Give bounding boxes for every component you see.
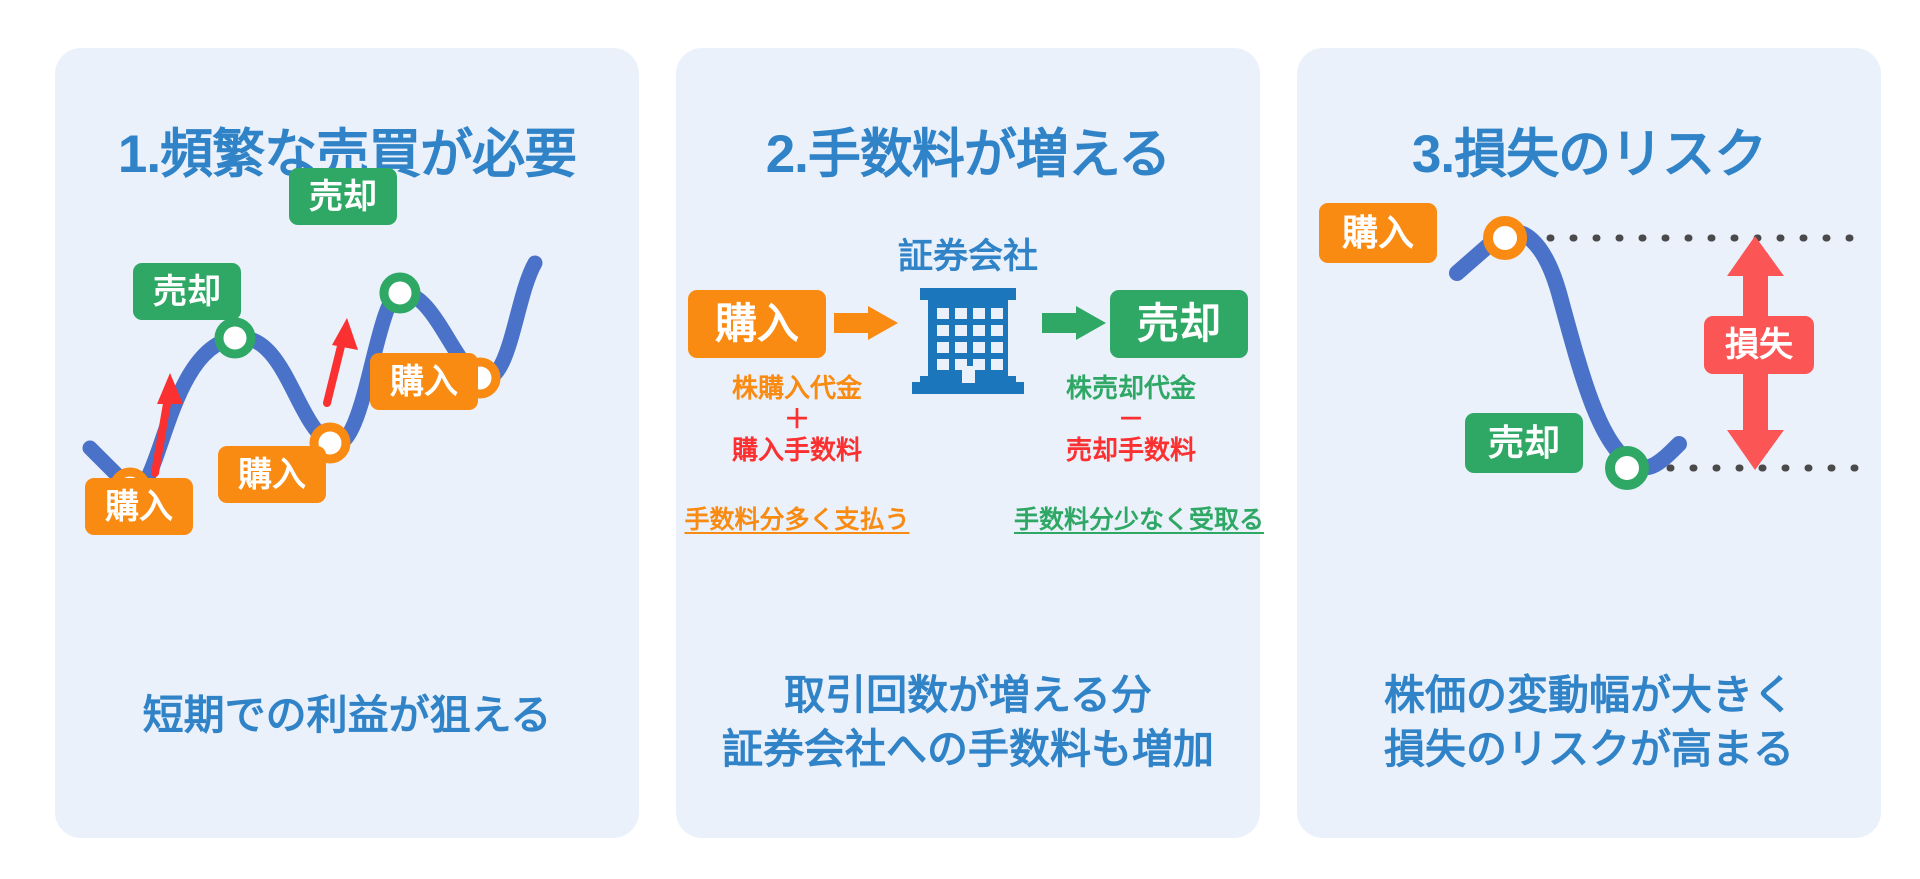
- marker-buy: [1488, 221, 1522, 255]
- panel-1-caption: 短期での利益が狙える: [55, 688, 639, 742]
- badge-loss: 損失: [1704, 316, 1814, 374]
- trend-arrow-2: [327, 318, 358, 403]
- sell-proceeds-breakdown: 株売却代金 － 売却手数料: [1016, 373, 1246, 465]
- marker-sell-1: [219, 322, 251, 354]
- panel-3-caption-line-2: 損失のリスクが高まる: [1297, 722, 1881, 776]
- badge-buy-3: 購入: [370, 353, 478, 410]
- badge-sell: 売却: [1110, 290, 1248, 358]
- sell-note: 手数料分少なく受取る: [1014, 500, 1254, 536]
- marker-sell-2: [384, 277, 416, 309]
- infographic-board: 1.頻繁な売買が必要 購入 売却 購入 売却 購入 短期での利益が狙える 2.手…: [0, 0, 1920, 879]
- badge-sell-2: 売却: [289, 168, 397, 225]
- sell-operator: －: [1016, 404, 1246, 434]
- sell-principal-label: 株売却代金: [1016, 373, 1246, 403]
- buy-operator: ＋: [682, 404, 912, 434]
- panel-3-caption-line-1: 株価の変動幅が大きく: [1297, 668, 1881, 722]
- panel-commission-increase: 2.手数料が増える 証券会社: [676, 48, 1260, 838]
- buy-cost-breakdown: 株購入代金 ＋ 購入手数料: [682, 373, 912, 465]
- panel-loss-risk: 3.損失のリスク 購入 売却 損失 株価の変動幅が大きく 損失のリスクが高まる: [1297, 48, 1881, 838]
- panel-3-caption: 株価の変動幅が大きく 損失のリスクが高まる: [1297, 668, 1881, 776]
- panel-2-caption-line-2: 証券会社への手数料も増加: [676, 722, 1260, 776]
- arrow-broker-to-sell: [1042, 306, 1106, 340]
- marker-sell: [1610, 451, 1644, 485]
- sell-commission-label: 売却手数料: [1016, 435, 1246, 465]
- arrow-buy-to-broker: [834, 306, 898, 340]
- buy-note: 手数料分多く支払う: [681, 500, 913, 536]
- panel-frequent-trading: 1.頻繁な売買が必要 購入 売却 購入 売却 購入 短期での利益が狙える: [55, 48, 639, 838]
- badge-buy: 購入: [1319, 203, 1437, 263]
- badge-buy-2: 購入: [218, 446, 326, 503]
- badge-sell-1: 売却: [133, 263, 241, 320]
- panel-2-caption-line-1: 取引回数が増える分: [676, 668, 1260, 722]
- badge-sell: 売却: [1465, 413, 1583, 473]
- buy-principal-label: 株購入代金: [682, 373, 912, 403]
- badge-buy: 購入: [688, 290, 826, 358]
- badge-buy-1: 購入: [85, 478, 193, 535]
- panel-2-caption: 取引回数が増える分 証券会社への手数料も増加: [676, 668, 1260, 776]
- buy-commission-label: 購入手数料: [682, 435, 912, 465]
